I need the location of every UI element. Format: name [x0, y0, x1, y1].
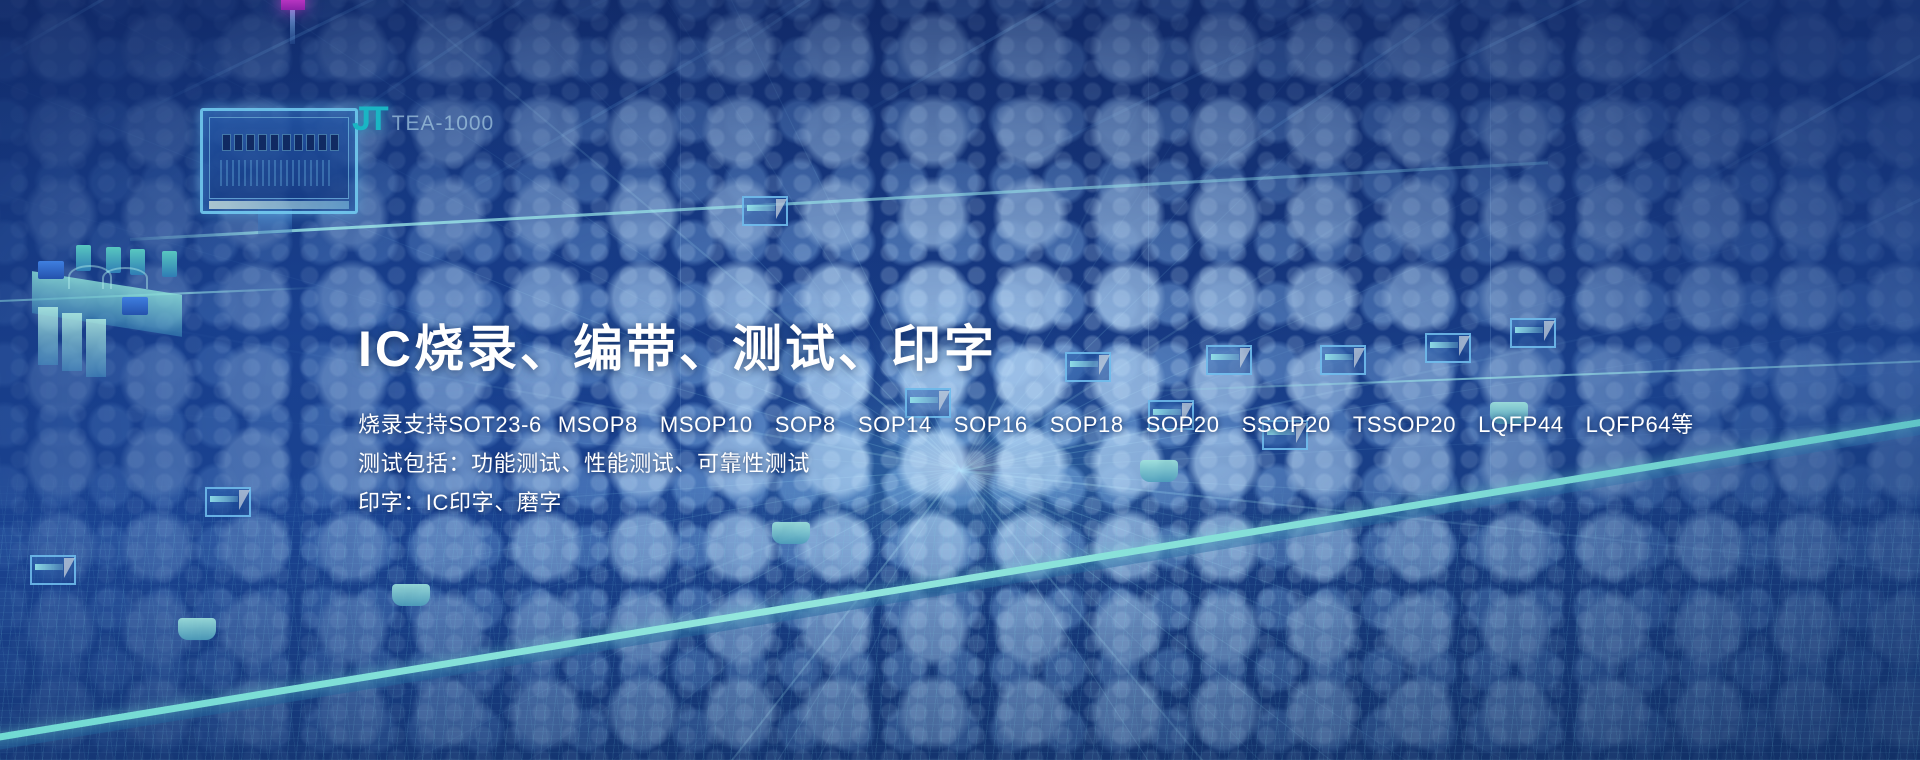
hero-text-block: IC烧录、编带、测试、印字 烧录支持SOT23-6MSOP8MSOP10SOP8… — [358, 318, 1658, 522]
package-name: LQFP44 — [1478, 412, 1564, 437]
machine-cable — [102, 267, 148, 289]
brand-logo-text: JT — [352, 100, 386, 139]
burn-support-line: 烧录支持SOT23-6MSOP8MSOP10SOP8SOP14SOP16SOP1… — [358, 405, 1658, 444]
industrial-machine — [10, 235, 210, 365]
package-name: SSOP20 — [1242, 412, 1331, 437]
rail-foot — [392, 584, 430, 606]
page-title: IC烧录、编带、测试、印字 — [358, 318, 1658, 380]
package-name: SOP18 — [1050, 412, 1124, 437]
equipment-brand: JT TEA-1000 — [352, 100, 494, 139]
package-name: MSOP8 — [558, 412, 638, 437]
test-scope-line: 测试包括：功能测试、性能测试、可靠性测试 — [358, 444, 1658, 483]
monitor-scanlines — [220, 160, 334, 186]
rail-foot — [178, 618, 216, 640]
machine-block — [62, 313, 82, 371]
package-name: SOP8 — [775, 412, 836, 437]
monitor-display — [200, 108, 358, 214]
panel-icon — [30, 555, 76, 585]
panel-icon — [205, 487, 251, 517]
chip-row-icon — [222, 134, 339, 151]
package-name: MSOP10 — [660, 412, 753, 437]
ceiling-lamp-icon — [281, 0, 305, 10]
machine-module — [122, 297, 148, 315]
monitor-screen — [209, 117, 349, 199]
rail-foot — [772, 522, 810, 544]
machine-block — [38, 307, 58, 365]
panel-icon — [742, 196, 788, 226]
machine-block — [86, 319, 106, 377]
package-name: SOP16 — [954, 412, 1028, 437]
burn-support-label: 烧录支持SOT23-6 — [358, 412, 542, 437]
machine-cylinder — [162, 251, 177, 277]
package-name: SOP20 — [1146, 412, 1220, 437]
hero-banner: JT TEA-1000 IC烧录、编带、测试、印字 烧录支持SOT23-6MSO… — [0, 0, 1920, 760]
package-name: SOP14 — [858, 412, 932, 437]
package-name: TSSOP20 — [1353, 412, 1456, 437]
monitor-base — [209, 201, 349, 209]
fixture-pole — [290, 8, 295, 44]
machine-module — [38, 261, 64, 279]
brand-model-text: TEA-1000 — [392, 112, 495, 136]
package-name: LQFP64等 — [1586, 412, 1694, 437]
marking-line: 印字：IC印字、磨字 — [358, 483, 1658, 522]
